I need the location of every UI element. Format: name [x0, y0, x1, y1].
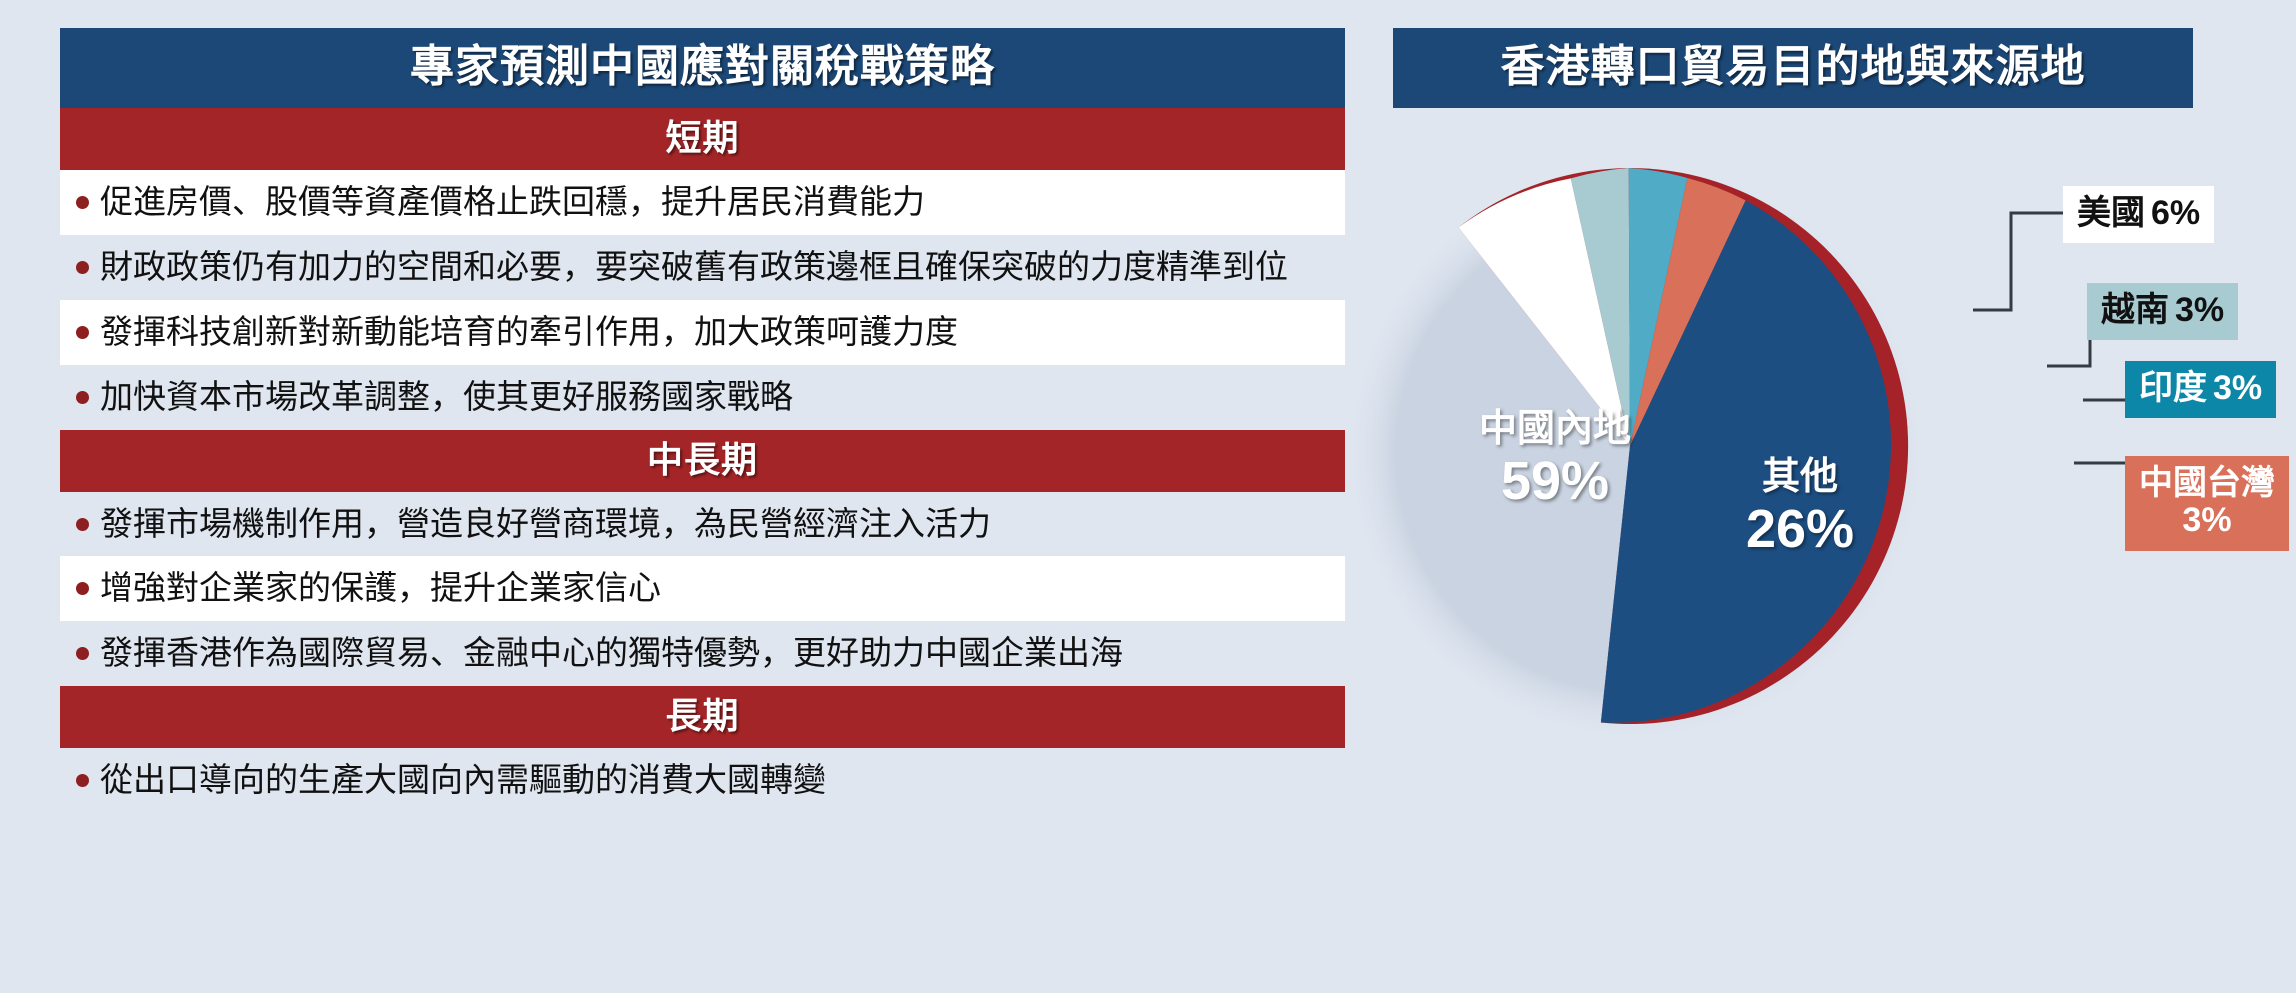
- section-header-medium-long-term: 中長期: [60, 430, 1345, 492]
- list-item-text: 促進房價、股價等資產價格止跌回穩，提升居民消費能力: [100, 180, 1323, 225]
- chart-title: 香港轉口貿易目的地與來源地: [1393, 28, 2193, 108]
- infographic-page: 專家預測中國應對關稅戰策略 短期 促進房價、股價等資產價格止跌回穩，提升居民消費…: [0, 0, 2296, 993]
- bullet-dot-icon: [76, 196, 89, 209]
- trade-chart-panel: 香港轉口貿易目的地與來源地: [1390, 28, 2255, 968]
- section-header-long-term: 長期: [60, 686, 1345, 748]
- list-item-text: 發揮科技創新對新動能培育的牽引作用，加大政策呵護力度: [100, 310, 1323, 355]
- strategy-panel: 專家預測中國應對關稅戰策略 短期 促進房價、股價等資產價格止跌回穩，提升居民消費…: [60, 28, 1345, 813]
- page-title: 專家預測中國應對關稅戰策略: [60, 28, 1345, 108]
- pie-chart: 中國內地 59% 其他 26% 美國6%: [1390, 108, 2255, 958]
- list-item-text: 加快資本市場改革調整，使其更好服務國家戰略: [100, 375, 1323, 420]
- list-item: 促進房價、股價等資產價格止跌回穩，提升居民消費能力: [60, 170, 1345, 235]
- list-item-text: 發揮香港作為國際貿易、金融中心的獨特優勢，更好助力中國企業出海: [100, 631, 1323, 676]
- list-item-text: 發揮市場機制作用，營造良好營商環境，為民營經濟注入活力: [100, 502, 1323, 547]
- list-item: 財政政策仍有加力的空間和必要，要突破舊有政策邊框且確保突破的力度精準到位: [60, 235, 1345, 300]
- bullet-dot-icon: [76, 518, 89, 531]
- list-item: 從出口導向的生產大國向內需驅動的消費大國轉變: [60, 748, 1345, 813]
- list-item-text: 增強對企業家的保護，提升企業家信心: [100, 566, 1323, 611]
- callout-taiwan[interactable]: 中國台灣 3%: [2125, 456, 2289, 551]
- bullet-dot-icon: [76, 647, 89, 660]
- bullet-dot-icon: [76, 582, 89, 595]
- bullet-dot-icon: [76, 261, 89, 274]
- callout-india[interactable]: 印度3%: [2125, 361, 2276, 418]
- list-item-text: 財政政策仍有加力的空間和必要，要突破舊有政策邊框且確保突破的力度精準到位: [100, 245, 1323, 290]
- bullet-dot-icon: [76, 391, 89, 404]
- bullet-dot-icon: [76, 326, 89, 339]
- list-item: 增強對企業家的保護，提升企業家信心: [60, 556, 1345, 621]
- list-item: 發揮市場機制作用，營造良好營商環境，為民營經濟注入活力: [60, 492, 1345, 557]
- list-item: 發揮香港作為國際貿易、金融中心的獨特優勢，更好助力中國企業出海: [60, 621, 1345, 686]
- callout-usa[interactable]: 美國6%: [2063, 186, 2214, 243]
- callout-vietnam[interactable]: 越南3%: [2087, 283, 2238, 340]
- list-item: 加快資本市場改革調整，使其更好服務國家戰略: [60, 365, 1345, 430]
- bullet-dot-icon: [76, 774, 89, 787]
- section-header-short-term: 短期: [60, 108, 1345, 170]
- list-item: 發揮科技創新對新動能培育的牽引作用，加大政策呵護力度: [60, 300, 1345, 365]
- list-item-text: 從出口導向的生產大國向內需驅動的消費大國轉變: [100, 758, 1323, 803]
